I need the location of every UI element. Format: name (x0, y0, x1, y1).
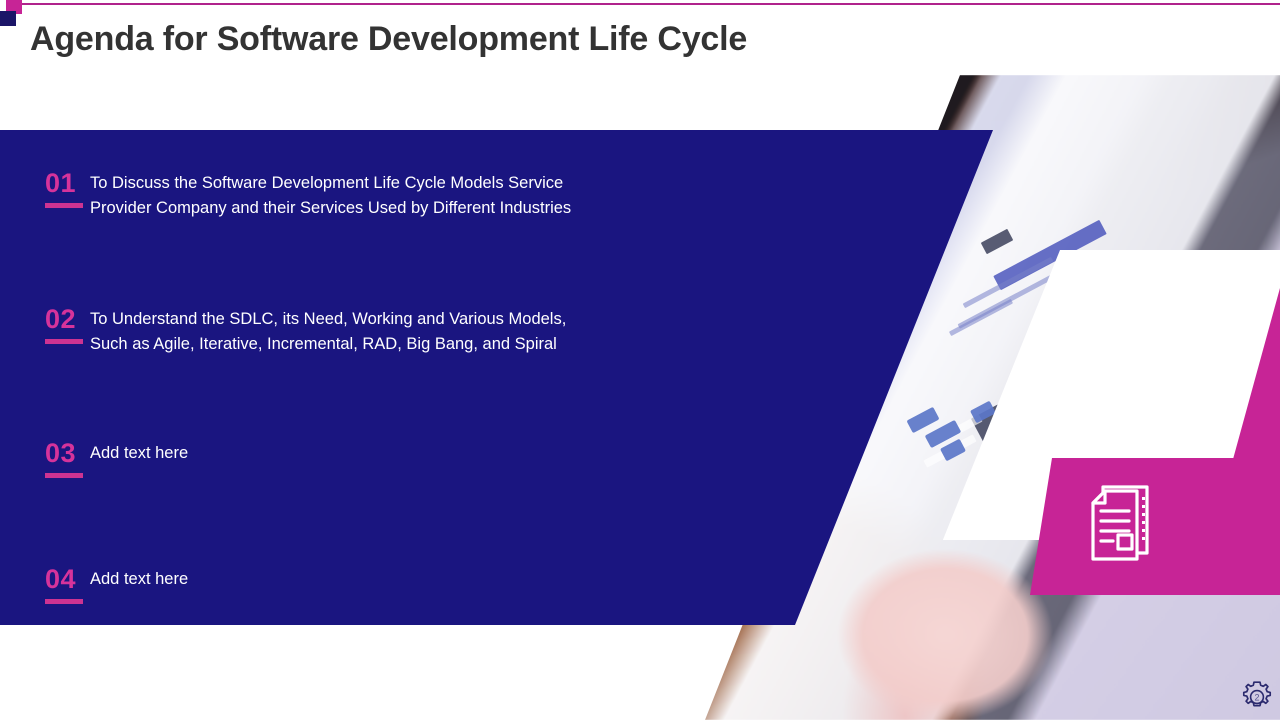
agenda-item-number-wrap: 04 (0, 566, 90, 593)
gear-icon-label: 2 (1254, 693, 1259, 703)
agenda-item: 02 To Understand the SDLC, its Need, Wor… (0, 306, 566, 357)
agenda-item-number: 04 (45, 566, 90, 593)
gear-icon[interactable]: 2 (1238, 678, 1276, 716)
top-accent-rule (22, 3, 1280, 5)
agenda-item: 03 Add text here (0, 440, 188, 467)
agenda-item-number: 03 (45, 440, 90, 467)
agenda-item-number: 02 (45, 306, 90, 333)
agenda-item: 04 Add text here (0, 566, 188, 593)
slide-root: Agenda for Software Development Life Cyc… (0, 0, 1280, 720)
decor-square-navy-icon (0, 11, 16, 26)
agenda-item: 01 To Discuss the Software Development L… (0, 170, 571, 221)
agenda-item-text: Add text here (90, 566, 188, 592)
page-title: Agenda for Software Development Life Cyc… (30, 20, 747, 59)
agenda-item-underline (45, 203, 83, 208)
agenda-item-text: To Discuss the Software Development Life… (90, 170, 571, 221)
agenda-item-underline (45, 473, 83, 478)
agenda-item-number-wrap: 02 (0, 306, 90, 333)
agenda-item-underline (45, 339, 83, 344)
agenda-item-text: To Understand the SDLC, its Need, Workin… (90, 306, 566, 357)
agenda-item-underline (45, 599, 83, 604)
agenda-item-number-wrap: 01 (0, 170, 90, 197)
agenda-item-number: 01 (45, 170, 90, 197)
documents-icon (1085, 477, 1165, 569)
agenda-item-number-wrap: 03 (0, 440, 90, 467)
agenda-item-text: Add text here (90, 440, 188, 466)
